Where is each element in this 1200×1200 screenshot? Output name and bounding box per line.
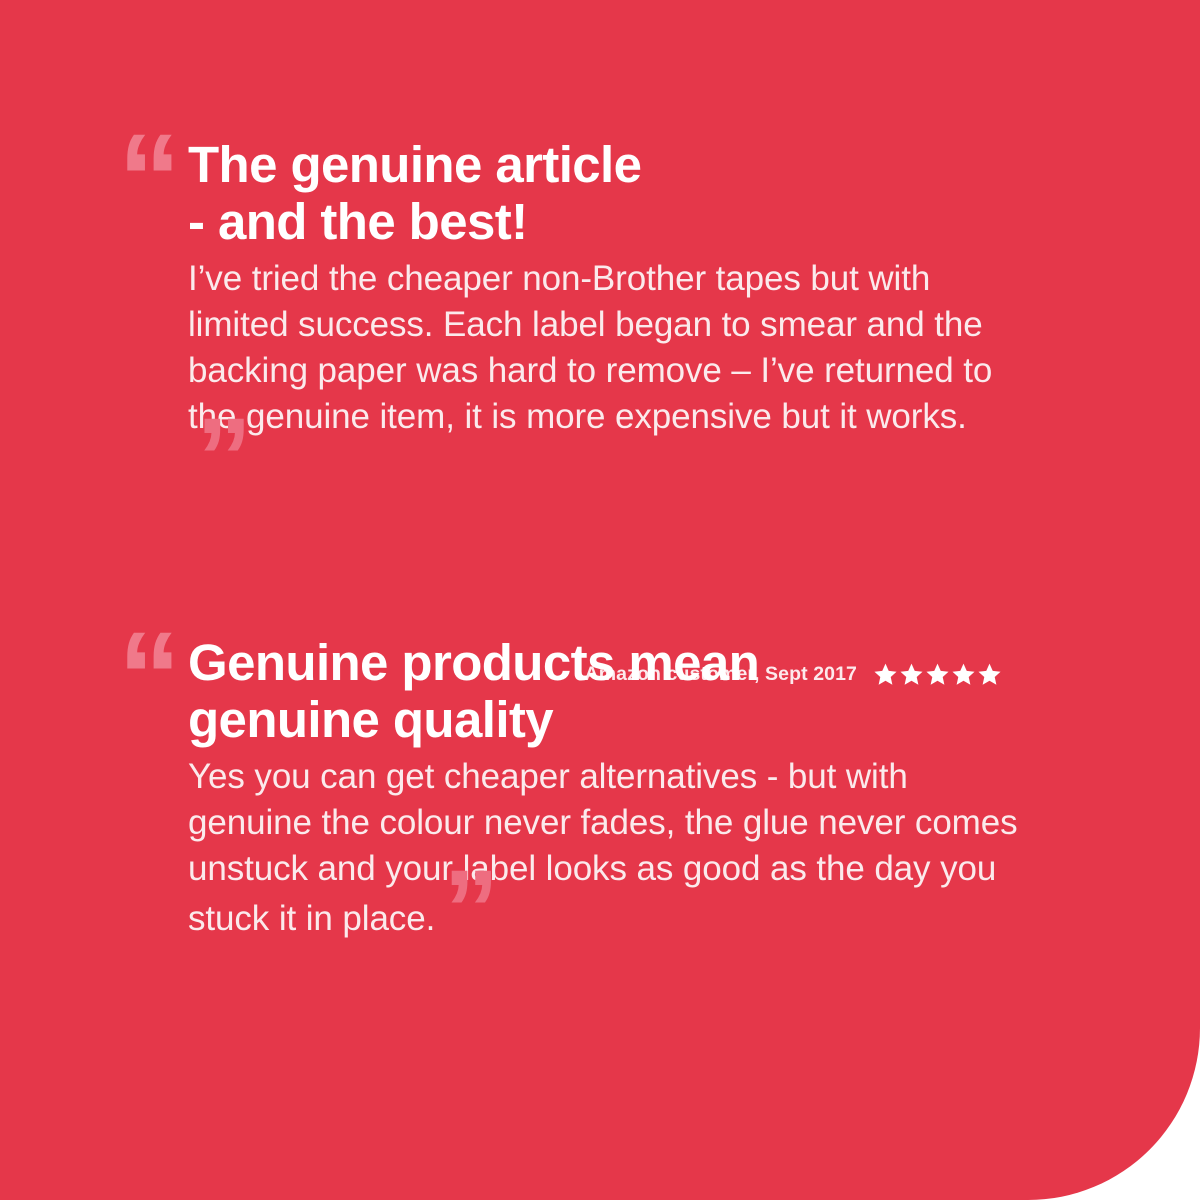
quote-open-glyph: “ [118,116,188,242]
review-text: Yes you can get cheaper alternatives - b… [188,757,1018,938]
review-text-wrapper: I’ve tried the cheaper non-Brother tapes… [188,250,1018,489]
quote-open-icon: “ [118,138,188,218]
review-heading: The genuine article - and the best! [188,136,1018,250]
review-text-wrapper: Yes you can get cheaper alternatives - b… [188,748,1018,941]
quote-open-glyph: “ [118,614,188,740]
review-heading: Genuine products mean genuine quality [188,634,1018,748]
review-body: The genuine article - and the best! I’ve… [188,136,1018,489]
review-text: I’ve tried the cheaper non-Brother tapes… [188,259,992,436]
review-card: “ The genuine article - and the best! I’… [0,0,1200,1200]
quote-open-icon: “ [118,636,188,716]
review-body: Genuine products mean genuine quality Ye… [188,634,1018,942]
